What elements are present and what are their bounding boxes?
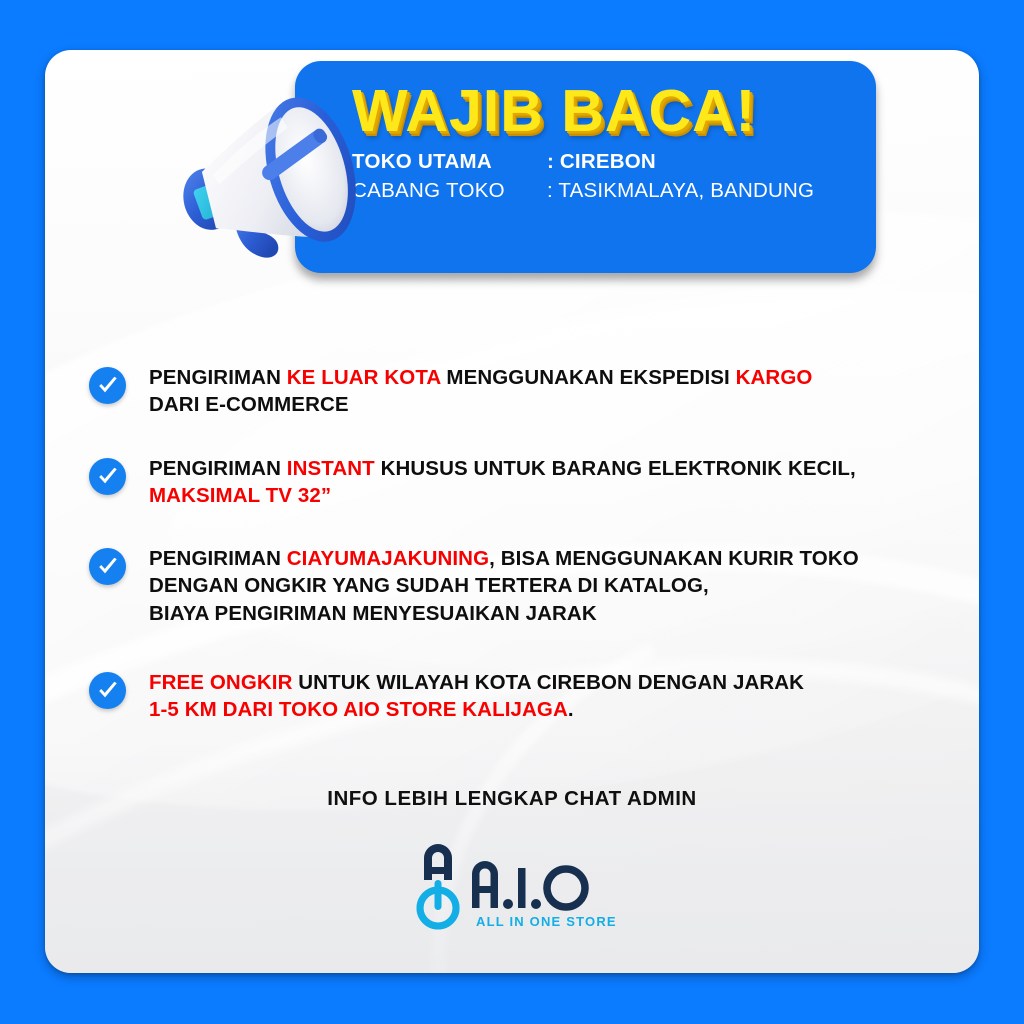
check-circle-icon bbox=[88, 547, 127, 586]
megaphone-icon bbox=[150, 75, 365, 290]
bullet-seg-highlight: CIAYUMAJAKUNING bbox=[287, 547, 489, 570]
store-label-main: TOKO UTAMA bbox=[352, 147, 547, 176]
store-value-main: : CIREBON bbox=[547, 147, 656, 176]
bullet-text-2: PENGIRIMAN INSTANT KHUSUS UNTUK BARANG E… bbox=[149, 453, 856, 510]
bullet-seg: MENGGUNAKAN EKSPEDISI bbox=[441, 366, 736, 389]
list-item: PENGIRIMAN CIAYUMAJAKUNING, BISA MENGGUN… bbox=[88, 543, 918, 627]
bullet-seg: PENGIRIMAN bbox=[149, 547, 287, 570]
store-label-branch: CABANG TOKO bbox=[352, 176, 547, 205]
bullet-seg-highlight: FREE ONGKIR bbox=[149, 671, 292, 694]
bullet-seg: . bbox=[568, 698, 574, 721]
banner-title: WAJIB BACA! bbox=[352, 83, 876, 139]
bullet-seg-highlight: KARGO bbox=[736, 366, 813, 389]
store-row-branch: CABANG TOKO : TASIKMALAYA, BANDUNG bbox=[352, 176, 876, 205]
bullet-seg: PENGIRIMAN bbox=[149, 366, 287, 389]
bullet-seg: BIAYA PENGIRIMAN MENYESUAIKAN JARAK bbox=[149, 602, 597, 625]
bullet-text-3: PENGIRIMAN CIAYUMAJAKUNING, BISA MENGGUN… bbox=[149, 543, 859, 627]
bullet-seg: DARI E-COMMERCE bbox=[149, 393, 349, 416]
logo-tagline: ALL IN ONE STORE bbox=[476, 914, 617, 929]
bullet-seg: PENGIRIMAN bbox=[149, 457, 287, 480]
check-circle-icon bbox=[88, 366, 127, 405]
header-banner: WAJIB BACA! TOKO UTAMA : CIREBON CABANG … bbox=[295, 61, 876, 273]
poster-root: WAJIB BACA! TOKO UTAMA : CIREBON CABANG … bbox=[0, 0, 1024, 1024]
bullet-seg: KHUSUS UNTUK BARANG ELEKTRONIK KECIL, bbox=[375, 457, 856, 480]
bullet-seg: DENGAN ONGKIR YANG SUDAH TERTERA DI KATA… bbox=[149, 574, 709, 597]
list-item: PENGIRIMAN INSTANT KHUSUS UNTUK BARANG E… bbox=[88, 453, 918, 510]
list-item: PENGIRIMAN KE LUAR KOTA MENGGUNAKAN EKSP… bbox=[88, 362, 918, 419]
check-circle-icon bbox=[88, 671, 127, 710]
aio-logo: ALL IN ONE STORE bbox=[0, 836, 1024, 932]
bullet-seg-highlight: MAKSIMAL TV 32” bbox=[149, 484, 331, 507]
bullet-seg-highlight: 1-5 KM DARI TOKO AIO STORE KALIJAGA bbox=[149, 698, 568, 721]
store-value-branch: : TASIKMALAYA, BANDUNG bbox=[547, 176, 814, 205]
footer-note: INFO LEBIH LENGKAP CHAT ADMIN bbox=[0, 787, 1024, 811]
bullet-seg-highlight: INSTANT bbox=[287, 457, 375, 480]
bullet-seg: UNTUK WILAYAH KOTA CIREBON DENGAN JARAK bbox=[292, 671, 804, 694]
bullet-text-1: PENGIRIMAN KE LUAR KOTA MENGGUNAKAN EKSP… bbox=[149, 362, 812, 419]
bullet-seg: , BISA MENGGUNAKAN KURIR TOKO bbox=[489, 547, 859, 570]
bullet-list: PENGIRIMAN KE LUAR KOTA MENGGUNAKAN EKSP… bbox=[88, 362, 918, 751]
store-info-list: TOKO UTAMA : CIREBON CABANG TOKO : TASIK… bbox=[352, 147, 876, 205]
check-circle-icon bbox=[88, 457, 127, 496]
bullet-text-4: FREE ONGKIR UNTUK WILAYAH KOTA CIREBON D… bbox=[149, 667, 804, 724]
store-row-main: TOKO UTAMA : CIREBON bbox=[352, 147, 876, 176]
list-item: FREE ONGKIR UNTUK WILAYAH KOTA CIREBON D… bbox=[88, 667, 918, 724]
bullet-seg-highlight: KE LUAR KOTA bbox=[287, 366, 441, 389]
